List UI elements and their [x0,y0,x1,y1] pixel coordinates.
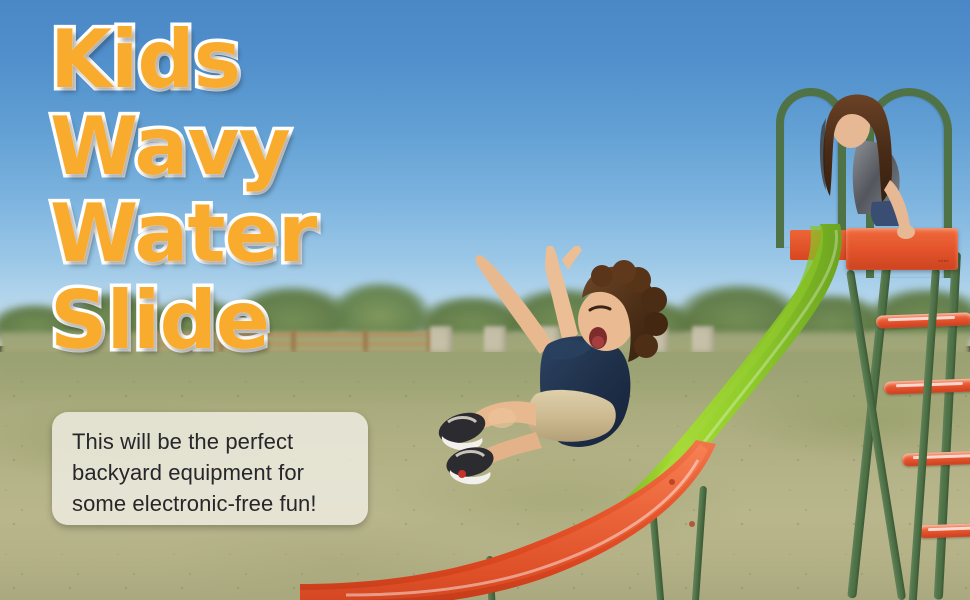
platform-logo: slide [938,258,949,263]
promo-banner: slide [0,0,970,600]
headline: Kids Wavy Water Slide [50,16,316,364]
ladder-rung-3 [902,450,970,466]
headline-line-4: Slide [50,277,316,364]
caption-box: This will be the perfect backyard equipm… [52,412,368,525]
ladder-rung-4 [918,523,970,539]
headline-line-1: Kids [50,16,316,103]
caption-line-1: This will be the perfect [72,426,350,457]
caption-line-2: backyard equipment for [72,457,350,488]
girl-on-platform [796,84,936,244]
ladder-rail-right [934,252,961,600]
headline-line-2: Wavy [50,103,316,190]
headline-line-3: Water [50,190,316,277]
boy-sliding [432,246,732,490]
caption-line-3: some electronic-free fun! [72,488,350,519]
